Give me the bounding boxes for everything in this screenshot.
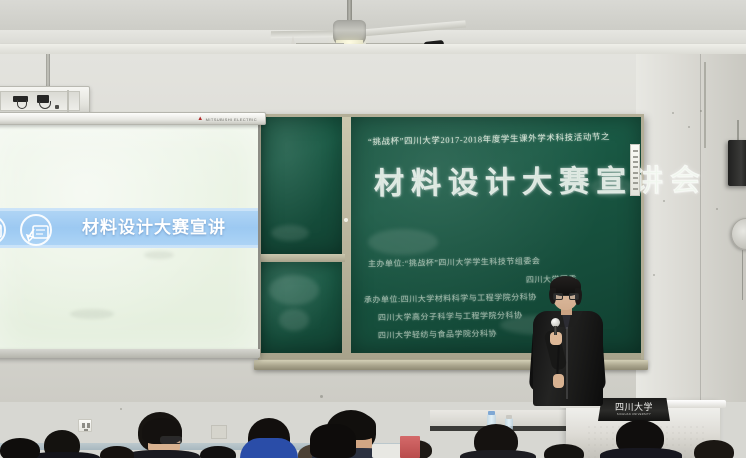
mitsubishi-logo-icon: ▲ — [197, 116, 203, 122]
blackboard-header-text: “挑战杯”四川大学2017-2018年度学生课外学术科技活动节之 — [368, 130, 610, 147]
pen-document-icon — [20, 214, 52, 246]
wall-mark — [663, 200, 665, 202]
audience-glasses — [160, 436, 182, 444]
magnet — [344, 218, 348, 222]
blackboard-divider-vertical — [342, 117, 351, 353]
slide-title: 材料设计大赛宣讲 — [82, 213, 226, 243]
audience-head — [694, 440, 734, 458]
wall-mark — [716, 208, 718, 210]
blackboard-notice-sign — [630, 144, 640, 196]
podium-logo-plate: 四川大学 SICHUAN UNIVERSITY — [598, 398, 670, 421]
power-outlet — [78, 419, 92, 432]
blackboard-detail-line: 四川大学轻纺与食品学院分科协 — [378, 328, 497, 341]
screen-smudge — [70, 309, 114, 319]
lecture-hall-photo: ▲ MITSUBISHI ELECTRIC — [0, 0, 746, 458]
podium-logo-text-en: SICHUAN UNIVERSITY — [617, 414, 651, 417]
wall-plate — [211, 425, 227, 439]
projection-screen-case: ▲ MITSUBISHI ELECTRIC — [0, 112, 266, 125]
red-notebook — [400, 436, 420, 458]
audience-shoulders — [124, 450, 200, 458]
audience-shoulders — [460, 450, 536, 458]
blackboard-divider-horizontal — [261, 254, 345, 262]
audience-head — [100, 446, 134, 458]
wall-mark — [653, 274, 655, 276]
wall-seam — [700, 54, 701, 402]
cable-connector — [55, 105, 59, 109]
bottle-cap — [506, 415, 512, 419]
projection-screen-bottom-bar — [0, 349, 260, 358]
wall-mark — [320, 395, 323, 398]
projection-screen: 材料设计大赛宣讲 — [0, 123, 260, 353]
blackboard-detail-line: 承办单位:四川大学材料科学与工程学院分科协 — [364, 291, 537, 305]
right-wall — [636, 54, 746, 402]
speaker-hand — [553, 374, 564, 388]
wall-mark — [120, 408, 122, 410]
audience-head — [0, 438, 40, 458]
speaker-bracket — [737, 120, 739, 142]
microphone-body — [554, 326, 557, 335]
bottle-cap — [488, 411, 495, 415]
monitor-chart-icon — [0, 215, 6, 245]
audience-hair-long — [310, 424, 356, 458]
speaker-glasses — [553, 293, 579, 300]
audience-head — [200, 446, 236, 458]
white-object — [372, 444, 402, 458]
audience-shoulders — [600, 448, 682, 458]
wall-speaker — [728, 140, 746, 186]
blackboard-panel — [261, 117, 345, 257]
blackboard-detail-line: 主办单位:“挑战杯”四川大学学生科技节组委会 — [368, 255, 540, 269]
projector-brand-label: ▲ MITSUBISHI ELECTRIC — [197, 116, 257, 122]
wall-fan-cord — [742, 250, 743, 300]
wall-mark — [688, 126, 690, 128]
conduit-pipe — [704, 62, 706, 148]
handheld-microphone — [551, 318, 560, 334]
blackboard-main-title: 材料设计大赛宣讲会 — [374, 155, 707, 202]
audience-blue-jacket — [240, 438, 298, 458]
audience-head — [544, 444, 584, 458]
cabinet-divider — [67, 90, 69, 112]
screen-smudge — [144, 251, 174, 259]
wall-mark — [700, 110, 702, 112]
blackboard-panel — [261, 261, 345, 353]
podium-logo-text-cn: 四川大学 — [615, 403, 653, 412]
wall-mark — [672, 112, 674, 114]
projector-brand-text: MITSUBISHI ELECTRIC — [206, 117, 257, 122]
cabinet-support-post — [46, 54, 50, 88]
